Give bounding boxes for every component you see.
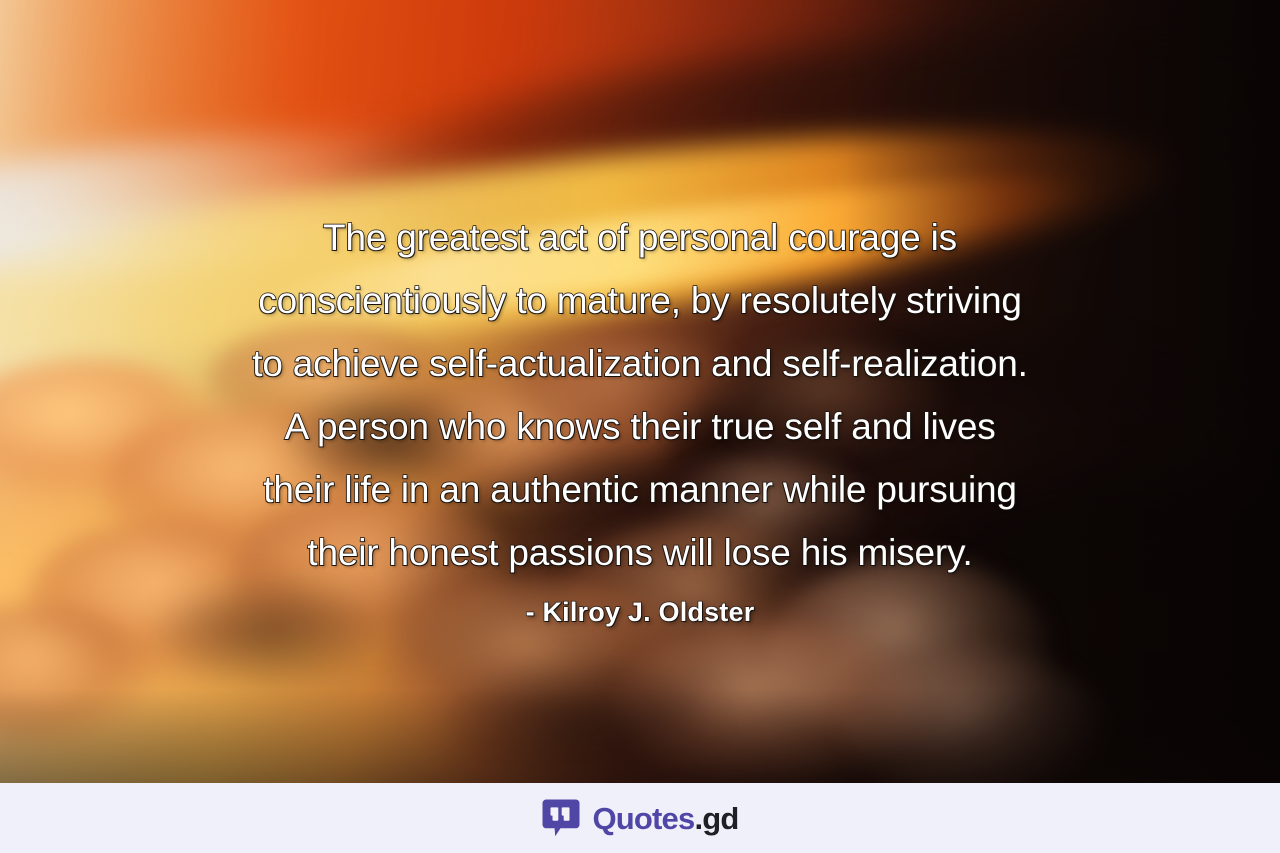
quote-image-page: The greatest act of personal courage is … [0, 0, 1280, 853]
logo-brand-name: Quotes [592, 801, 694, 836]
quote-text-block: The greatest act of personal courage is … [0, 206, 1280, 584]
quote-line: The greatest act of personal courage is [60, 206, 1220, 269]
cloud-shadow-gap [154, 576, 384, 689]
quote-line: their honest passions will lose his mise… [60, 521, 1220, 584]
bottom-vignette [0, 689, 1280, 783]
quote-line: to achieve self-actualization and self-r… [60, 332, 1220, 395]
site-logo[interactable]: Quotes.gd [541, 798, 738, 838]
quote-author: - Kilroy J. Oldster [0, 597, 1280, 628]
logo-brand-tld: .gd [694, 801, 738, 836]
quote-line: their life in an authentic manner while … [60, 458, 1220, 521]
quote-line: A person who knows their true self and l… [60, 395, 1220, 458]
footer-bar: Quotes.gd [0, 783, 1280, 853]
site-logo-wordmark: Quotes.gd [592, 803, 738, 834]
quote-bubble-icon [541, 798, 581, 838]
quote-line: conscientiously to mature, by resolutely… [60, 269, 1220, 332]
